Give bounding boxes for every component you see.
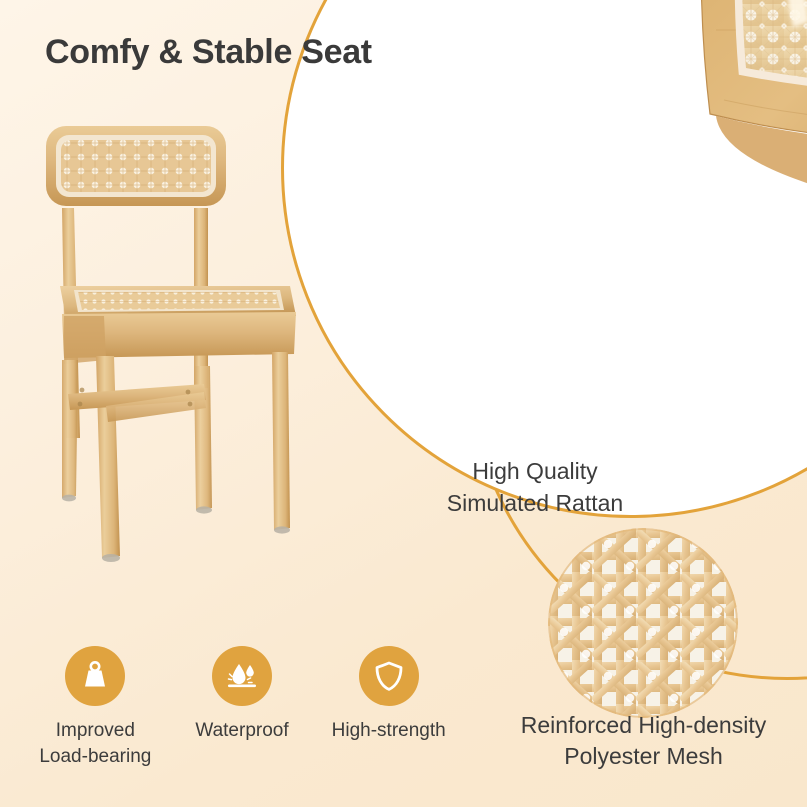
main-callout-photo-clip: [281, 0, 807, 518]
feature-item-high-strength: High-strength: [315, 646, 462, 770]
chair-seat-rattan: [78, 292, 280, 310]
chair-backrest-rattan: [61, 140, 211, 192]
feature-badge-load-bearing: [65, 646, 125, 706]
product-infographic-poster: Comfy & Stable Seat High Quality Simulat…: [0, 0, 807, 807]
water-drop-icon: [224, 658, 260, 694]
main-callout-caption-line1: High Quality: [390, 455, 680, 487]
feature-badge-high-strength: [359, 646, 419, 706]
rattan-weave-detail-photo: [548, 528, 738, 718]
detail-callout-caption-line1: Reinforced High-density: [480, 710, 807, 741]
chair-front-leg-left: [96, 356, 120, 558]
weight-icon: [78, 659, 112, 693]
page-title: Comfy & Stable Seat: [45, 33, 372, 72]
main-callout-caption: High Quality Simulated Rattan: [390, 455, 680, 519]
feature-item-waterproof: Waterproof: [169, 646, 316, 770]
feature-label-high-strength: High-strength: [332, 718, 446, 744]
seat-top-view-photo: [564, 0, 807, 330]
chair-front-leg-right: [272, 352, 290, 530]
feature-badge-waterproof: [212, 646, 272, 706]
feature-label-waterproof: Waterproof: [195, 718, 288, 744]
chair-product-photo: [18, 108, 313, 608]
feature-label-load-bearing: Improved Load-bearing: [39, 718, 151, 770]
main-callout-caption-line2: Simulated Rattan: [390, 487, 680, 519]
detail-callout-caption-line2: Polyester Mesh: [480, 741, 807, 772]
feature-item-load-bearing: Improved Load-bearing: [22, 646, 169, 770]
detail-callout-caption: Reinforced High-density Polyester Mesh: [480, 710, 807, 772]
feature-list: Improved Load-bearing Waterproof: [22, 646, 462, 770]
shield-icon: [372, 659, 406, 693]
